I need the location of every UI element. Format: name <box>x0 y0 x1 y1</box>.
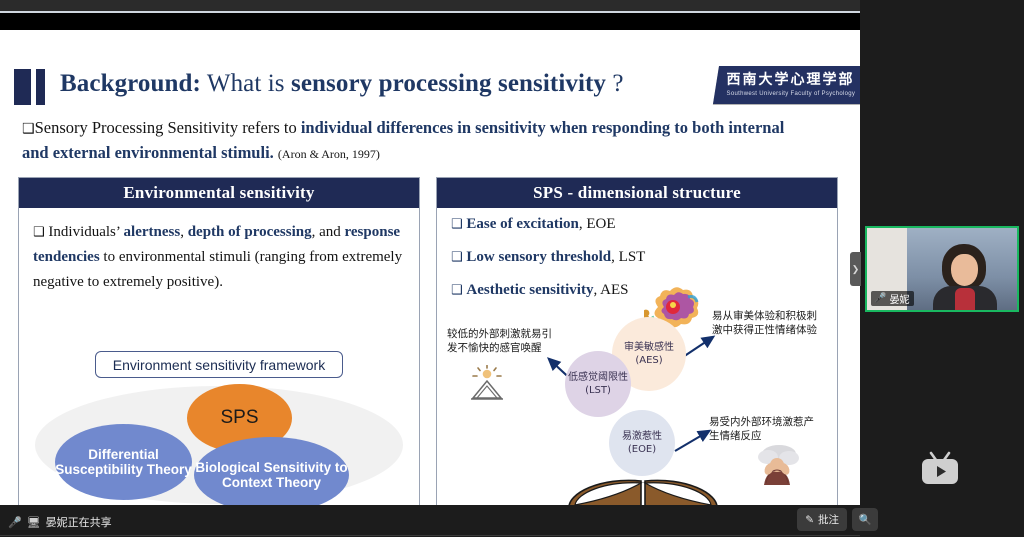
bullet-square-icon: ❑ <box>451 217 463 232</box>
participant-video-tile[interactable]: 🎤 晏妮 <box>865 226 1019 312</box>
left-panel-text: ❑ Individuals’ alertness, depth of proce… <box>33 220 408 295</box>
meeting-window: Background: What is sensory processing s… <box>0 0 1024 537</box>
participant-name-badge: 🎤 晏妮 <box>871 291 914 306</box>
split-coconut-icon <box>561 473 725 505</box>
lead-paragraph: ❑Sensory Processing Sensitivity refers t… <box>22 116 812 166</box>
dimension-code: , AES <box>593 282 628 298</box>
venn-diagram: SPS Differential Susceptibility Theory B… <box>19 384 419 505</box>
bullet-square-icon: ❑ <box>22 121 35 137</box>
share-toolbar: ✎ 批注 🔍 <box>797 508 878 531</box>
left-panel-sentence: Individuals’ alertness, depth of process… <box>33 224 402 290</box>
logo-chinese-text: 西南大学心理学部 <box>727 69 860 89</box>
bubble-lst-code: (LST) <box>585 384 611 397</box>
zoom-view-button[interactable]: 🔍 <box>852 508 878 531</box>
distressed-person-icon <box>755 443 799 485</box>
bottom-status-bar: 🎤 🖥 晏妮正在共享 ✎ 批注 🔍 <box>0 505 1024 537</box>
lead-plain: Sensory Processing Sensitivity refers to <box>35 118 301 137</box>
sun-rays-icon <box>467 365 507 401</box>
share-status-text: 晏妮正在共享 <box>46 514 112 530</box>
title-prefix: Background: <box>60 70 201 97</box>
dimension-name: Low sensory threshold <box>466 249 611 265</box>
dimension-code: , LST <box>611 249 645 265</box>
left-panel-fragment-3: depth of processing <box>188 224 312 240</box>
shared-screen-region[interactable]: Background: What is sensory processing s… <box>0 13 860 505</box>
bubble-lst-cn: 低感觉阈限性 <box>568 371 628 384</box>
title-mid: What is <box>201 70 291 97</box>
presentation-slide: Background: What is sensory processing s… <box>0 30 860 505</box>
panel-left-heading: Environmental sensitivity <box>19 178 419 208</box>
panel-sps-dimensional-structure: SPS - dimensional structure ❑ Ease of ex… <box>436 177 838 505</box>
logo-english-text: Southwest University Faculty of Psycholo… <box>727 91 860 97</box>
dimension-name: Aesthetic sensitivity <box>466 282 593 298</box>
chevron-right-icon[interactable]: ❯ <box>850 252 861 286</box>
annotate-label: 批注 <box>818 512 839 527</box>
microphone-icon: 🎤 <box>8 516 22 529</box>
list-item: ❑ Aesthetic sensitivity, AES <box>451 282 781 299</box>
page-title: Background: What is sensory processing s… <box>60 70 720 98</box>
bubble-lst: 低感觉阈限性 (LST) <box>565 351 631 417</box>
avatar-clothing <box>955 288 975 312</box>
panel-left-body: ❑ Individuals’ alertness, depth of proce… <box>19 208 419 505</box>
bubble-aes-cn: 审美敏感性 <box>624 341 674 354</box>
note-lst: 较低的外部刺激就易引发不愉快的感官唤醒 <box>447 327 562 355</box>
note-eoe: 易受内外部环境激惹产生情绪反应 <box>709 415 821 443</box>
dimension-code: , EOE <box>579 216 616 232</box>
left-panel-fragment-4: , and <box>312 224 345 240</box>
sps-dimension-diagram: 审美敏感性 (AES) 低感觉阈限性 (LST) 易激惹性 (EOE) 较低的 <box>437 303 837 505</box>
lead-citation: (Aron & Aron, 1997) <box>278 147 380 161</box>
lead-period: . <box>270 143 274 162</box>
venn-left-theory: Differential Susceptibility Theory <box>55 424 192 500</box>
title-suffix: ? <box>606 70 624 97</box>
bullet-square-icon: ❑ <box>451 250 463 265</box>
annotate-button[interactable]: ✎ 批注 <box>797 508 847 531</box>
list-item: ❑ Ease of excitation, EOE <box>451 216 781 233</box>
left-panel-fragment-0: Individuals’ <box>48 224 123 240</box>
avatar-face <box>951 254 978 286</box>
bullet-square-icon: ❑ <box>33 225 45 240</box>
framework-chip: Environment sensitivity framework <box>95 351 343 378</box>
tv-play-icon[interactable] <box>918 450 962 486</box>
panel-environmental-sensitivity: Environmental sensitivity ❑ Individuals’… <box>18 177 420 505</box>
share-status: 🎤 🖥 晏妮正在共享 <box>8 514 112 530</box>
university-logo: 西南大学心理学部 Southwest University Faculty of… <box>713 66 860 104</box>
participant-name: 晏妮 <box>889 291 909 306</box>
bubble-aes-code: (AES) <box>635 354 662 367</box>
panel-right-body: ❑ Ease of excitation, EOE ❑ Low sensory … <box>437 208 837 505</box>
title-accent-bar-2 <box>36 69 45 105</box>
bubble-eoe-cn: 易激惹性 <box>622 430 662 443</box>
bubble-eoe: 易激惹性 (EOE) <box>609 410 675 476</box>
left-panel-fragment-1: alertness <box>124 224 181 240</box>
bubble-eoe-code: (EOE) <box>628 443 656 456</box>
sps-dimension-list: ❑ Ease of excitation, EOE ❑ Low sensory … <box>451 216 781 315</box>
panel-right-heading: SPS - dimensional structure <box>437 178 837 208</box>
microphone-icon: 🎤 <box>874 293 886 304</box>
pencil-icon: ✎ <box>805 514 814 526</box>
bottom-separator <box>0 535 860 536</box>
title-accent-bar-1 <box>14 69 31 105</box>
screen-share-icon: 🖥 <box>27 516 41 529</box>
participant-rail: ❯ 🎤 晏妮 <box>860 0 1024 537</box>
list-item: ❑ Low sensory threshold, LST <box>451 249 781 266</box>
magnifier-plus-icon: 🔍 <box>858 513 871 526</box>
venn-right-theory: Biological Sensitivity to Context Theory <box>194 437 349 505</box>
title-bold: sensory processing sensitivity <box>291 70 606 97</box>
slide-title-bar: Background: What is sensory processing s… <box>0 30 860 86</box>
left-panel-fragment-2: , <box>180 224 188 240</box>
dimension-name: Ease of excitation <box>466 216 578 232</box>
note-aes: 易从审美体验和积极刺激中获得正性情绪体验 <box>712 309 827 337</box>
bullet-square-icon: ❑ <box>451 283 463 298</box>
